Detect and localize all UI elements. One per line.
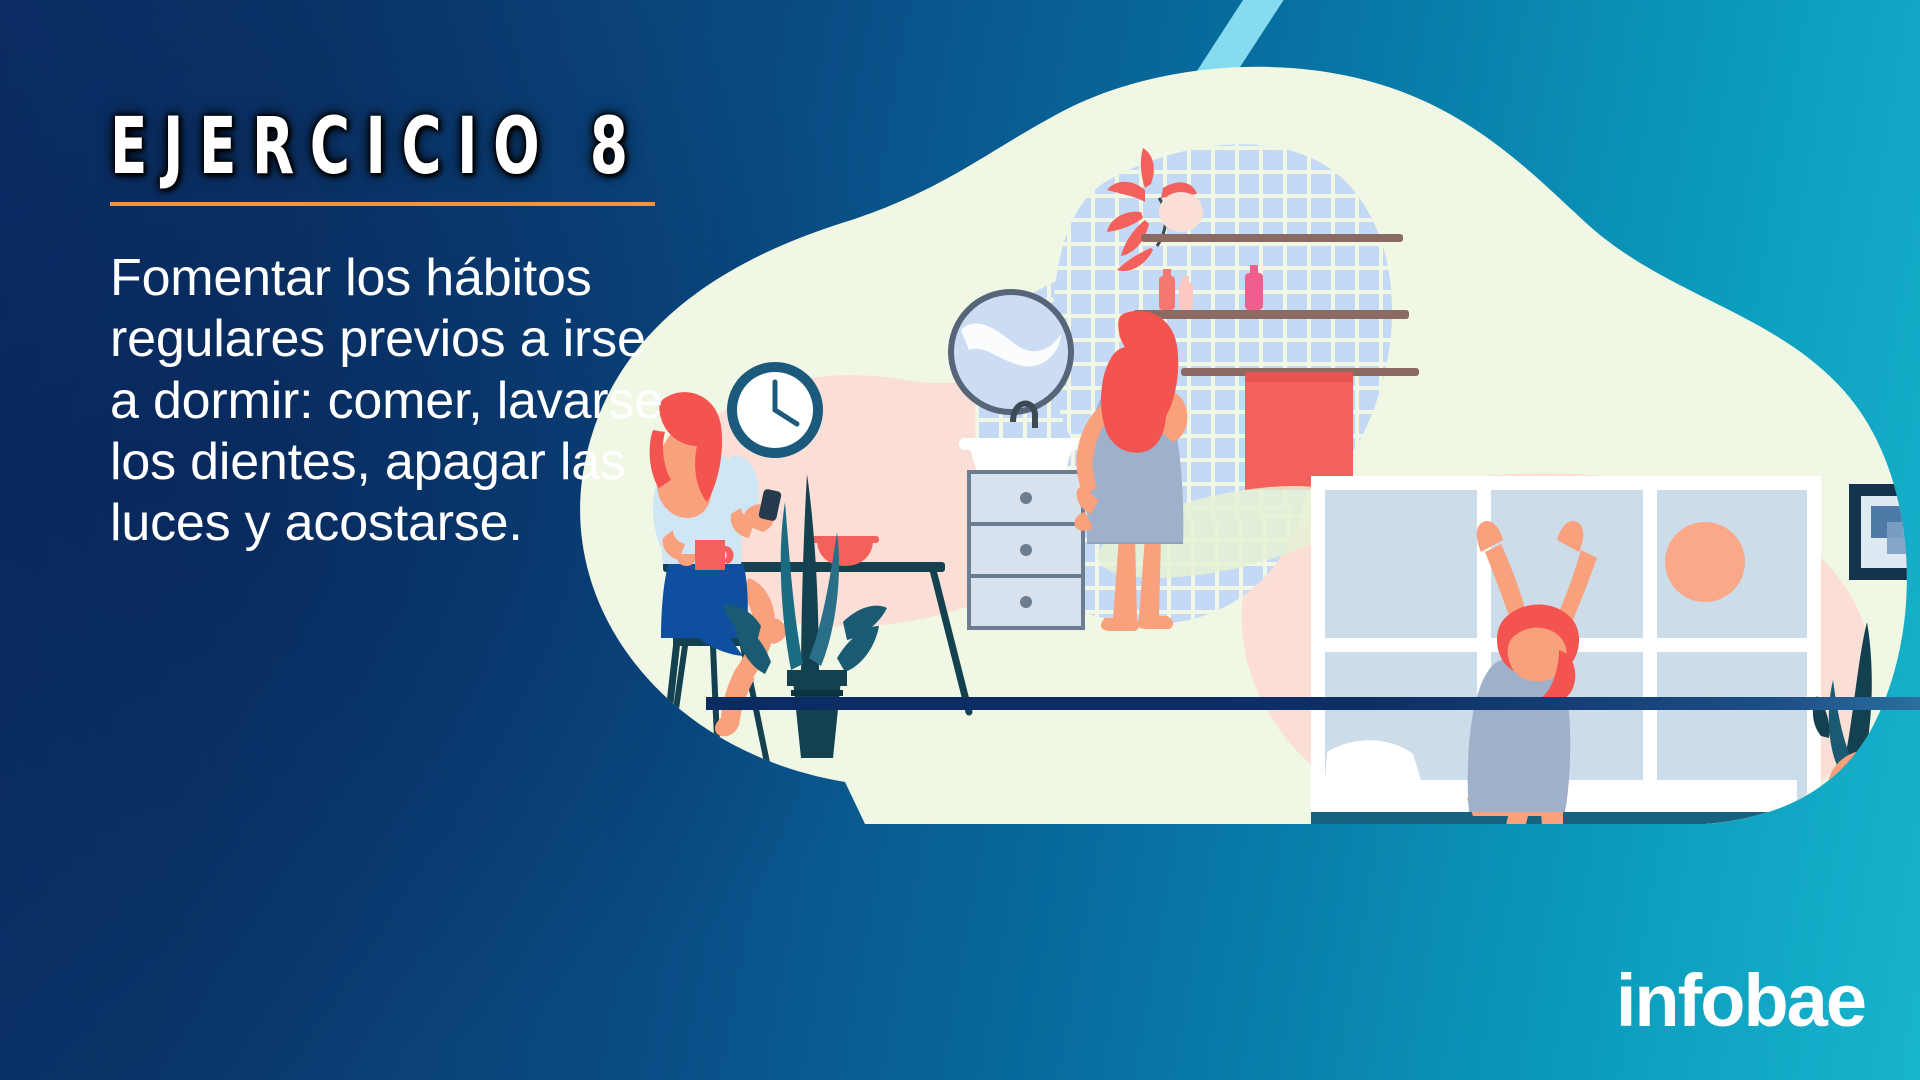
framed-picture [1849,484,1920,580]
bottom-accent-bar [706,697,1920,710]
round-mirror [951,292,1071,412]
page-title: EJERCICIO 8 [110,108,609,186]
red-towel [1245,372,1353,490]
title-underline [110,202,655,206]
three-drawer-cabinet [969,472,1083,628]
text-column: EJERCICIO 8 Fomentar los hábitos regular… [110,108,750,555]
sun [1665,522,1745,602]
body-text: Fomentar los hábitos regulares previos a… [110,248,670,555]
slide-canvas: EJERCICIO 8 Fomentar los hábitos regular… [0,0,1920,1080]
shelf-top [1141,234,1403,242]
illustration-blob [545,62,1920,877]
shelf-bottom [1133,310,1409,319]
infobae-logo: infobae [1616,964,1865,1038]
